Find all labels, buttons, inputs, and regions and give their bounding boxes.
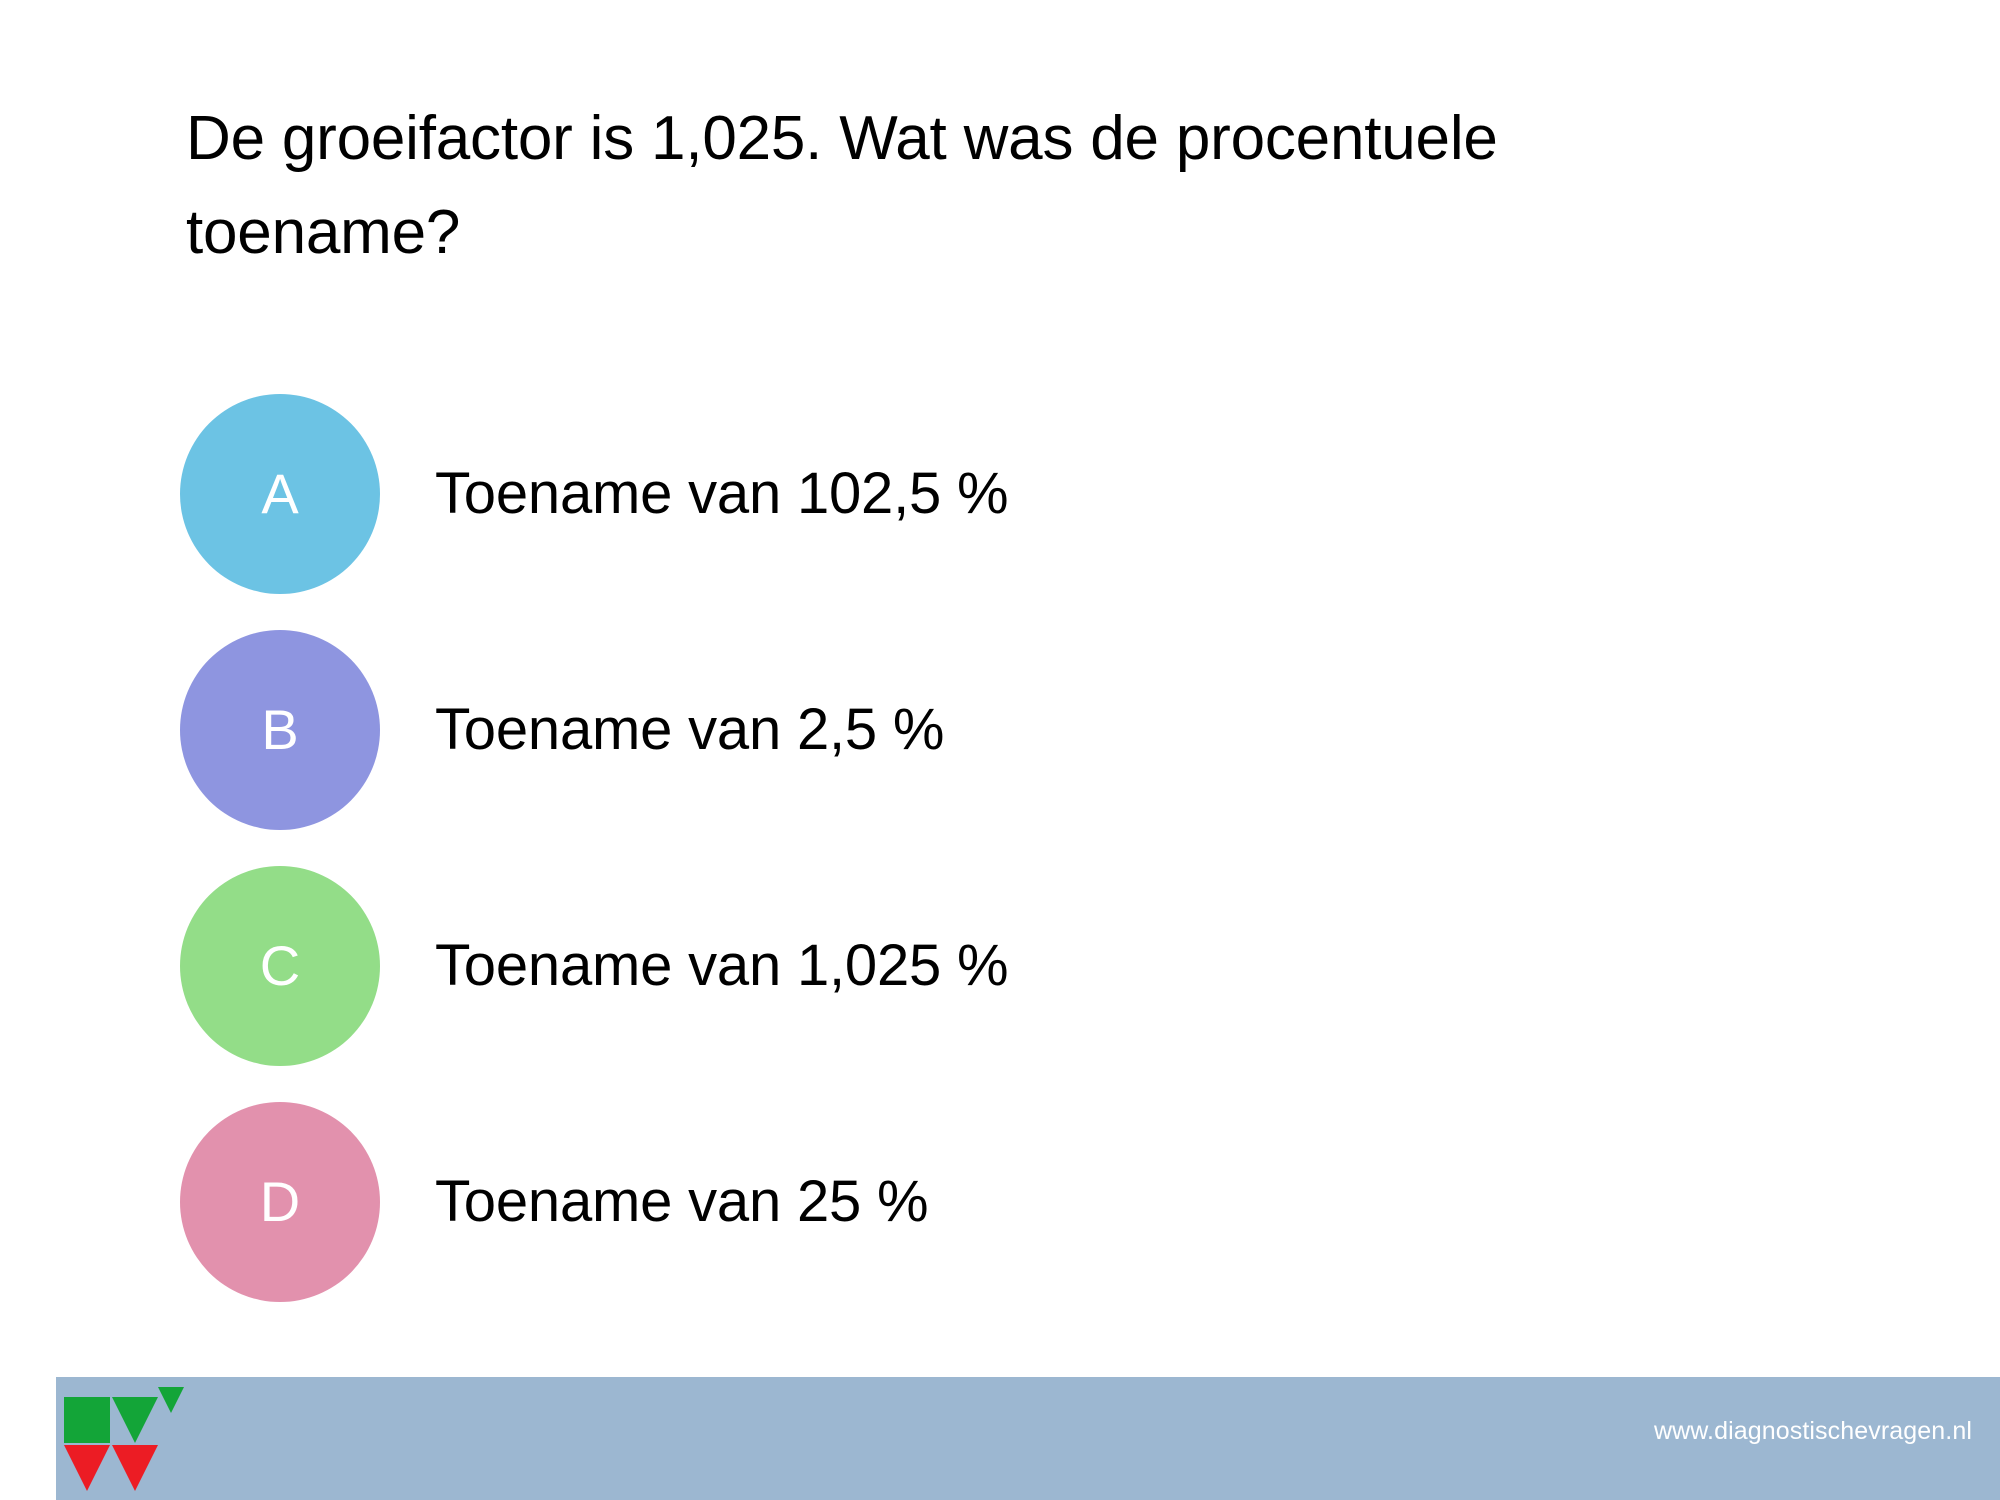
answer-option-b[interactable]: B Toename van 2,5 % [180, 630, 1880, 830]
answer-text-b: Toename van 2,5 % [435, 701, 944, 759]
footer-url-text[interactable]: www.diagnostischevragen.nl [1654, 1419, 1972, 1444]
answer-option-d[interactable]: D Toename van 25 % [180, 1102, 1880, 1302]
footer-bar: www.diagnostischevragen.nl [56, 1377, 2000, 1500]
answer-bubble-d[interactable]: D [180, 1102, 380, 1302]
answer-letter-b: B [261, 702, 298, 758]
answer-option-c[interactable]: C Toename van 1,025 % [180, 866, 1880, 1066]
slide-canvas: De groeifactor is 1,025. Wat was de proc… [0, 0, 2000, 1500]
answer-letter-d: D [260, 1174, 300, 1230]
answer-letter-a: A [261, 466, 298, 522]
answer-letter-c: C [260, 938, 300, 994]
answer-bubble-c[interactable]: C [180, 866, 380, 1066]
page-title: De groeifactor is 1,025. Wat was de proc… [186, 92, 1606, 280]
answer-option-a[interactable]: A Toename van 102,5 % [180, 394, 1880, 594]
answer-bubble-a[interactable]: A [180, 394, 380, 594]
answer-bubble-b[interactable]: B [180, 630, 380, 830]
answer-text-c: Toename van 1,025 % [435, 937, 1008, 995]
answer-text-d: Toename van 25 % [435, 1173, 928, 1231]
answer-text-a: Toename van 102,5 % [435, 465, 1008, 523]
diagnostische-vragen-logo-icon [62, 1387, 184, 1491]
